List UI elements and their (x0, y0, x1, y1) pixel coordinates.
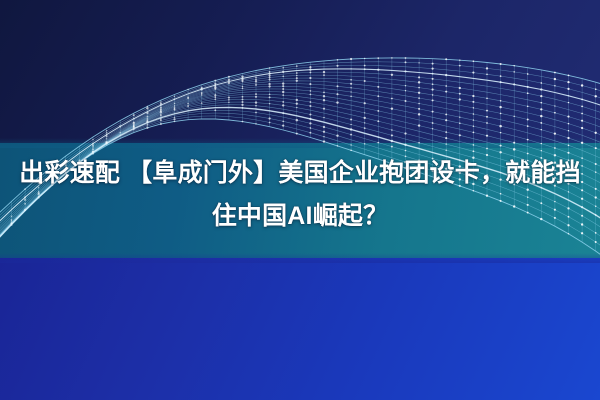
headline-line-1: 出彩速配 【阜成门外】美国企业抱团设卡，就能挡 (0, 152, 600, 195)
headline-line-2: 住中国AI崛起？ (0, 195, 600, 238)
article-cover-banner: 出彩速配 【阜成门外】美国企业抱团设卡，就能挡 住中国AI崛起？ (0, 0, 600, 400)
page-title: 出彩速配 【阜成门外】美国企业抱团设卡，就能挡 住中国AI崛起？ (0, 152, 600, 238)
background-band-navy (0, 0, 600, 145)
background-band-blue (0, 258, 600, 400)
